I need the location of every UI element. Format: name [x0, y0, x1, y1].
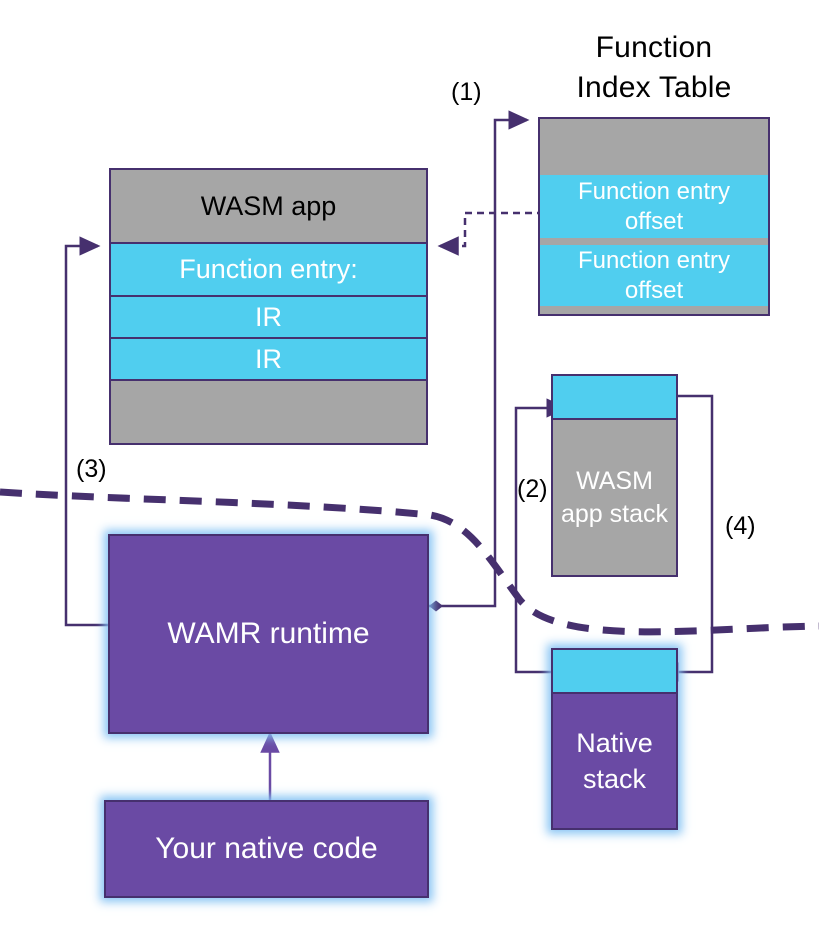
- step-label-3-text: (3): [76, 455, 107, 483]
- step-label-1: (1): [451, 78, 482, 106]
- wasm-app-title-row: WASM app: [111, 170, 426, 242]
- diagram-canvas: Function Index Table Function entry offs…: [0, 0, 819, 925]
- native-stack-label-line2: stack: [583, 761, 646, 797]
- wasm-app-ir-label-0: IR: [255, 302, 282, 333]
- wasm-app-function-entry-row[interactable]: Function entry:: [111, 242, 426, 297]
- fit-entry-1-line1: Function entry: [578, 246, 730, 276]
- native-stack-top-band: [553, 650, 676, 694]
- wasm-app-stack-box[interactable]: WASM app stack: [551, 374, 678, 577]
- wamr-runtime-box[interactable]: WAMR runtime: [108, 534, 429, 734]
- fit-title-line2: Index Table: [538, 68, 770, 108]
- your-native-code-label: Your native code: [155, 832, 377, 866]
- wasm-app-box[interactable]: WASM app Function entry: IR IR: [109, 168, 428, 445]
- wasm-app-stack-body: WASM app stack: [553, 420, 676, 575]
- wasm-app-ir-row-0[interactable]: IR: [111, 297, 426, 339]
- fit-row-divider: [540, 238, 768, 245]
- step-label-4: (4): [725, 512, 756, 540]
- wasm-app-empty-row: [111, 381, 426, 443]
- wasm-app-ir-label-1: IR: [255, 344, 282, 375]
- step-label-1-text: (1): [451, 78, 482, 106]
- native-stack-box[interactable]: Native stack: [551, 648, 678, 830]
- step-label-3: (3): [76, 455, 107, 483]
- function-index-table[interactable]: Function entry offset Function entry off…: [538, 117, 770, 316]
- fit-row-empty-top: [540, 119, 768, 175]
- wasm-app-stack-label-line2: app stack: [561, 498, 668, 531]
- fit-entry-row-1[interactable]: Function entry offset: [540, 245, 768, 306]
- wasm-app-function-entry-label: Function entry:: [179, 254, 358, 285]
- native-stack-label-line1: Native: [576, 725, 653, 761]
- step-label-4-text: (4): [725, 512, 756, 540]
- fit-entry-1-line2: offset: [625, 276, 683, 306]
- wasm-app-ir-row-1[interactable]: IR: [111, 339, 426, 381]
- wamr-runtime-label: WAMR runtime: [167, 617, 369, 651]
- function-index-table-title: Function Index Table: [538, 28, 770, 108]
- connector-3-runtime-to-wasm-app: [66, 246, 108, 625]
- wasm-app-stack-top-band: [553, 376, 676, 420]
- wasm-app-stack-label-line1: WASM: [576, 465, 653, 498]
- fit-row-empty-bottom: [540, 306, 768, 314]
- fit-entry-0-line1: Function entry: [578, 177, 730, 207]
- fit-entry-0-line2: offset: [625, 207, 683, 237]
- native-stack-body: Native stack: [553, 694, 676, 828]
- fit-title-line1: Function: [538, 28, 770, 68]
- your-native-code-box[interactable]: Your native code: [104, 800, 429, 898]
- connector-1-runtime-to-index-table: [429, 120, 527, 612]
- step-label-2: (2): [517, 475, 548, 503]
- step-label-2-text: (2): [517, 475, 548, 503]
- fit-entry-row-0[interactable]: Function entry offset: [540, 175, 768, 238]
- wasm-app-title: WASM app: [201, 191, 337, 222]
